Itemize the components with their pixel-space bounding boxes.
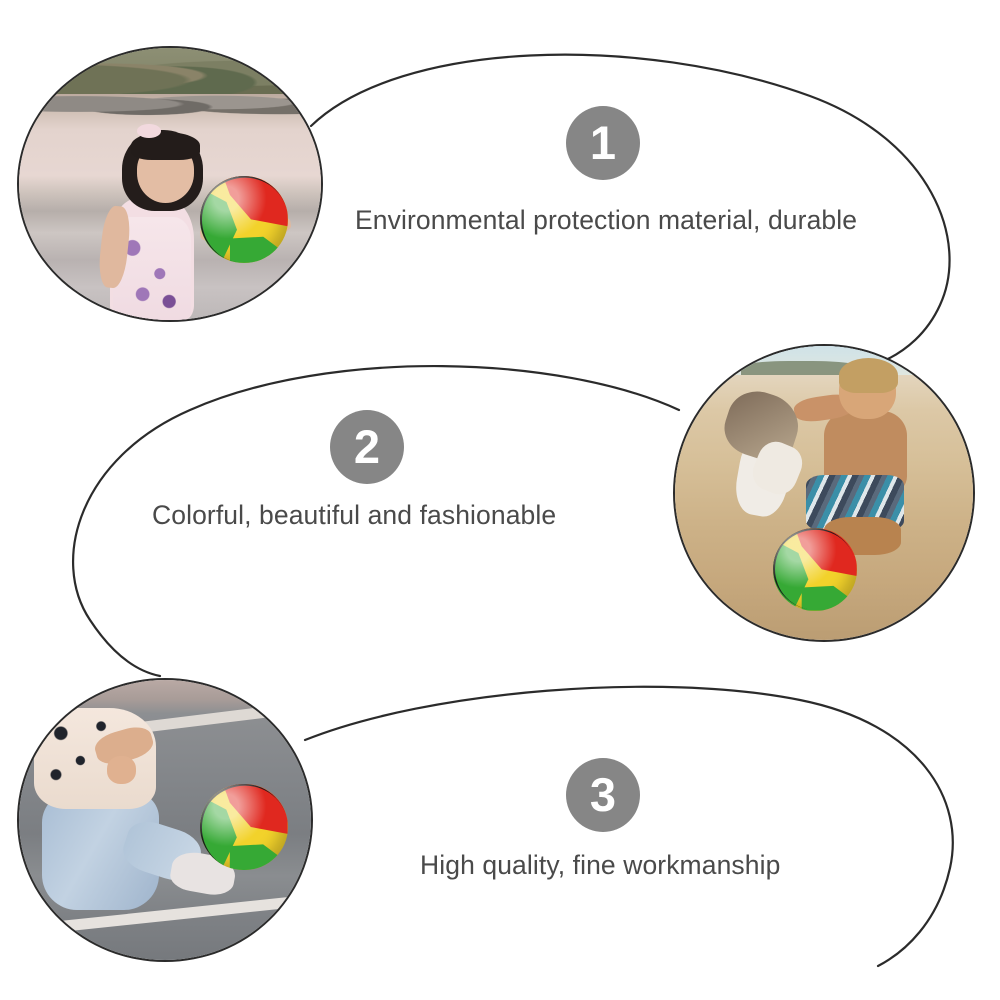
girl-hair-bow bbox=[137, 124, 161, 138]
step-caption-1: Environmental protection material, durab… bbox=[355, 205, 857, 236]
beach-ball bbox=[200, 176, 288, 263]
step-number-badge-3: 3 bbox=[566, 758, 640, 832]
beach-ball bbox=[773, 528, 856, 610]
child-sweater bbox=[34, 708, 157, 809]
beach-ball bbox=[200, 784, 288, 871]
boy-hair bbox=[839, 358, 899, 393]
photo-scene-sand-dog bbox=[675, 346, 973, 640]
photo-circle-step-1 bbox=[17, 46, 323, 322]
step-number-badge-2: 2 bbox=[330, 410, 404, 484]
step-number-badge-1: 1 bbox=[566, 106, 640, 180]
connector-3-tail bbox=[305, 687, 953, 966]
ball-highlight bbox=[200, 784, 288, 871]
step-caption-3: High quality, fine workmanship bbox=[420, 850, 780, 881]
infographic-root: 1 Environmental protection material, dur… bbox=[0, 0, 1000, 1000]
photo-circle-step-3 bbox=[17, 678, 313, 962]
child-fist bbox=[107, 756, 136, 784]
ball-highlight bbox=[200, 176, 288, 263]
photo-circle-step-2 bbox=[673, 344, 975, 642]
beach-stones bbox=[25, 86, 315, 116]
ball-highlight bbox=[773, 528, 856, 610]
photo-scene-asphalt bbox=[19, 680, 311, 960]
photo-scene-beach-girl bbox=[19, 48, 321, 320]
step-caption-2: Colorful, beautiful and fashionable bbox=[152, 500, 556, 531]
